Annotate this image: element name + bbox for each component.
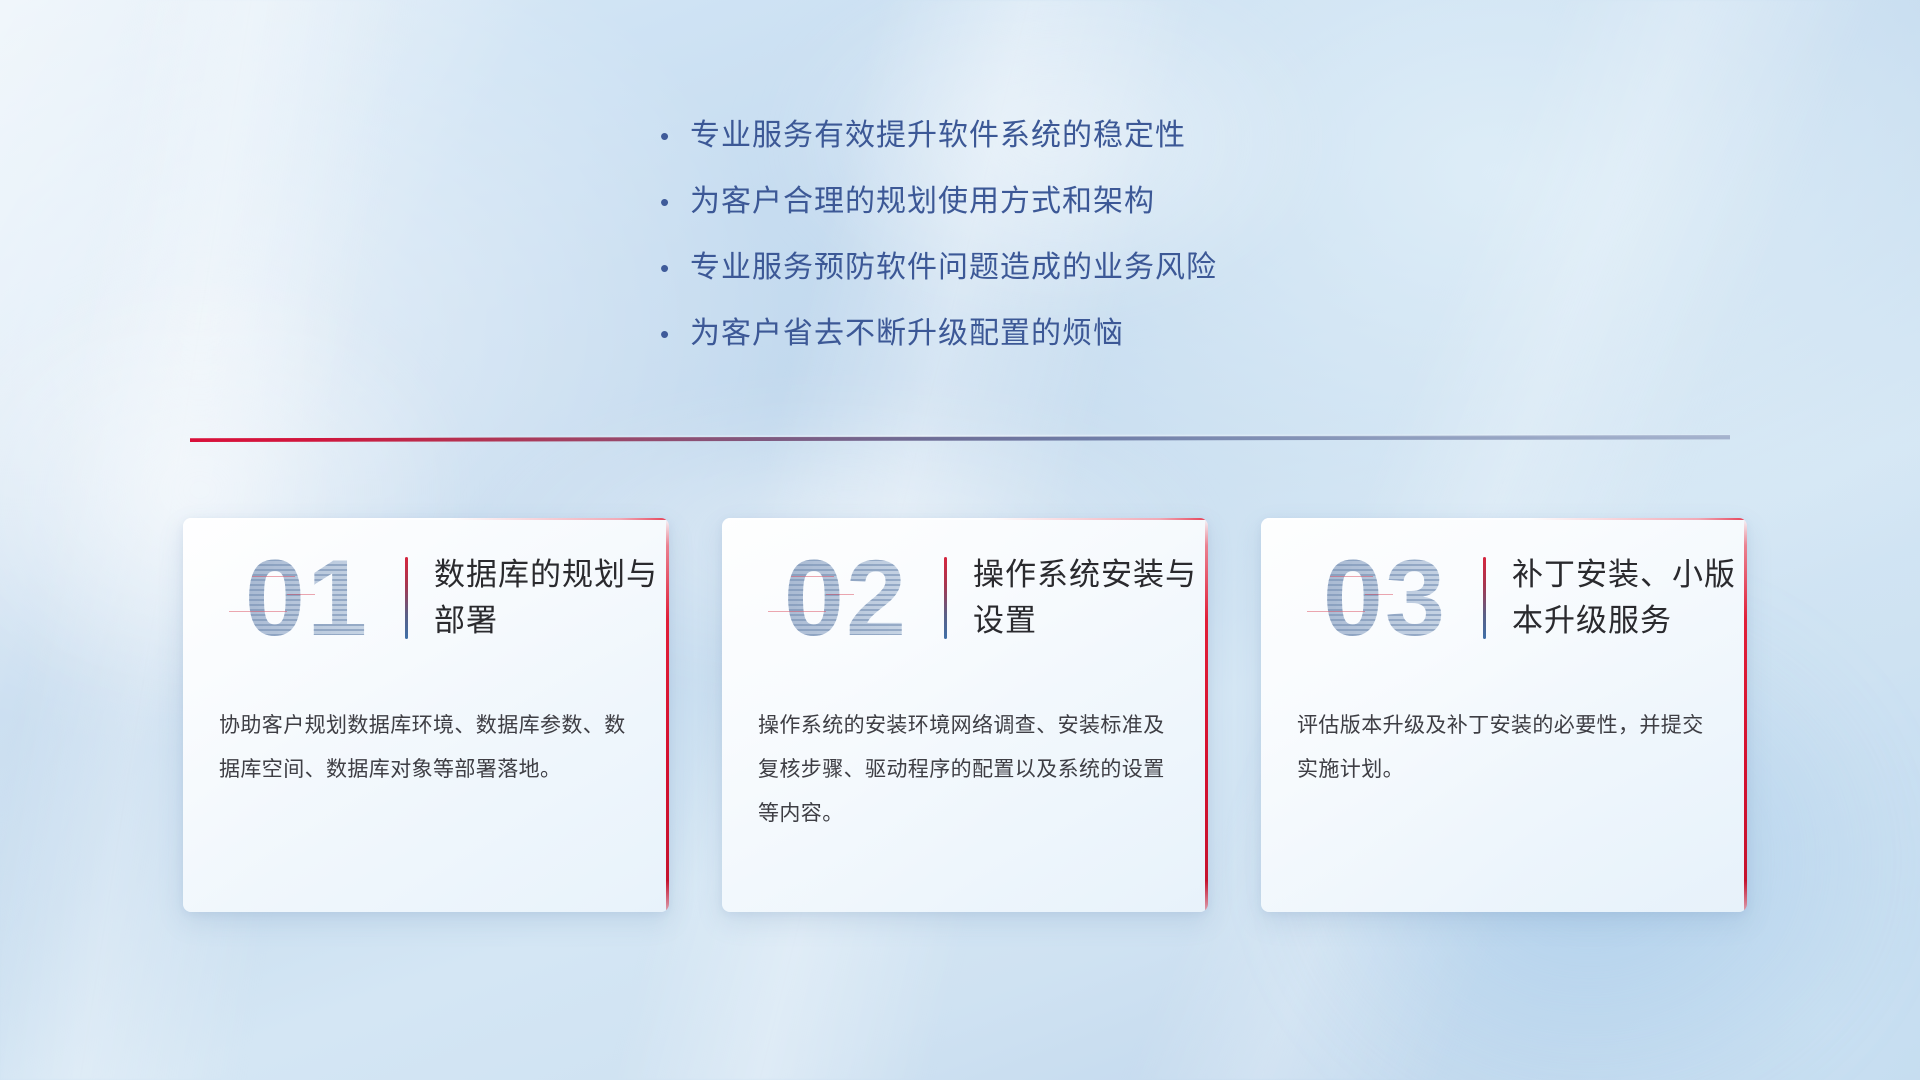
card-body-text: 评估版本升级及补丁安装的必要性，并提交实施计划。 <box>1261 678 1747 792</box>
list-item: • 专业服务预防软件问题造成的业务风险 <box>660 248 1420 288</box>
slide-canvas: • 专业服务有效提升软件系统的稳定性 • 为客户合理的规划使用方式和架构 • 专… <box>0 0 1920 1080</box>
number-texture-spark <box>1330 576 1373 577</box>
number-texture-spark <box>1307 611 1366 612</box>
card-header: 03 补丁安装、小版本升级服务 <box>1261 518 1747 678</box>
list-item: • 为客户合理的规划使用方式和架构 <box>660 182 1420 222</box>
number-texture-spark <box>791 576 834 577</box>
list-item: • 为客户省去不断升级配置的烦恼 <box>660 314 1420 354</box>
bullet-dot-icon: • <box>660 314 690 354</box>
card-title: 操作系统安装与设置 <box>973 552 1203 644</box>
number-texture-spark <box>287 594 314 595</box>
bullet-list: • 专业服务有效提升软件系统的稳定性 • 为客户合理的规划使用方式和架构 • 专… <box>660 116 1420 380</box>
card-number: 01 <box>209 544 405 652</box>
bullet-dot-icon: • <box>660 182 690 222</box>
bullet-text: 为客户合理的规划使用方式和架构 <box>690 182 1155 222</box>
service-card[interactable]: 02 操作系统安装与设置 操作系统的安装环境网络调查、安装标准及复核步骤、驱动程… <box>722 518 1208 912</box>
service-card[interactable]: 01 数据库的规划与部署 协助客户规划数据库环境、数据库参数、数据库空间、数据库… <box>183 518 669 912</box>
service-card[interactable]: 03 补丁安装、小版本升级服务 评估版本升级及补丁安装的必要性，并提交实施计划。 <box>1261 518 1747 912</box>
number-texture-spark <box>826 594 853 595</box>
card-number: 02 <box>748 544 944 652</box>
number-texture-spark <box>229 611 288 612</box>
number-texture-spark <box>1365 594 1392 595</box>
card-accent-bar <box>405 557 408 639</box>
number-texture-spark <box>252 576 295 577</box>
bullet-dot-icon: • <box>660 248 690 288</box>
card-title: 数据库的规划与部署 <box>434 552 664 644</box>
bullet-text: 专业服务预防软件问题造成的业务风险 <box>690 248 1217 288</box>
list-item: • 专业服务有效提升软件系统的稳定性 <box>660 116 1420 156</box>
card-body-text: 协助客户规划数据库环境、数据库参数、数据库空间、数据库对象等部署落地。 <box>183 678 669 792</box>
card-body-text: 操作系统的安装环境网络调查、安装标准及复核步骤、驱动程序的配置以及系统的设置等内… <box>722 678 1208 836</box>
bullet-dot-icon: • <box>660 116 690 156</box>
card-header: 01 数据库的规划与部署 <box>183 518 669 678</box>
card-header: 02 操作系统安装与设置 <box>722 518 1208 678</box>
card-accent-bar <box>1483 557 1486 639</box>
number-texture-spark <box>768 611 827 612</box>
card-number: 03 <box>1287 544 1483 652</box>
card-row: 01 数据库的规划与部署 协助客户规划数据库环境、数据库参数、数据库空间、数据库… <box>183 518 1748 912</box>
card-title: 补丁安装、小版本升级服务 <box>1512 552 1742 644</box>
bullet-text: 为客户省去不断升级配置的烦恼 <box>690 314 1124 354</box>
card-accent-bar <box>944 557 947 639</box>
bullet-text: 专业服务有效提升软件系统的稳定性 <box>690 116 1186 156</box>
section-divider <box>190 432 1730 448</box>
